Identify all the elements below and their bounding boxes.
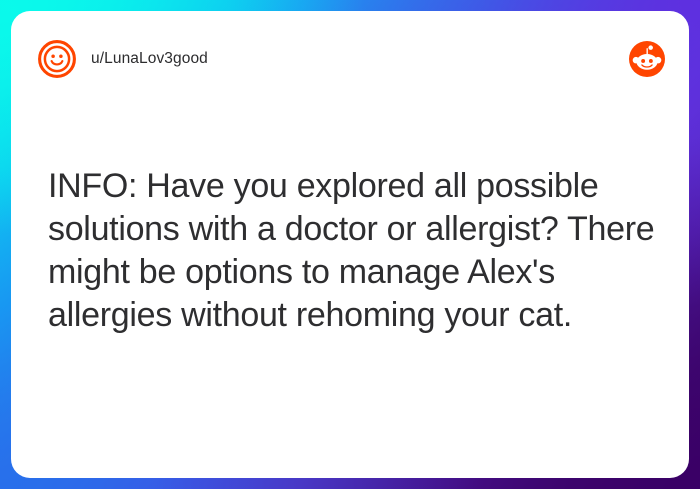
reddit-quote-card: u/LunaLov3good <box>11 11 689 478</box>
card-header: u/LunaLov3good <box>11 11 689 107</box>
username-label: u/LunaLov3good <box>91 51 208 67</box>
quote-text: INFO: Have you explored all possible sol… <box>48 165 664 337</box>
screenshot-root: u/LunaLov3good <box>0 0 700 489</box>
reddit-snoo-logo-icon[interactable] <box>629 41 665 77</box>
smiley-face-avatar-icon[interactable] <box>37 39 77 79</box>
